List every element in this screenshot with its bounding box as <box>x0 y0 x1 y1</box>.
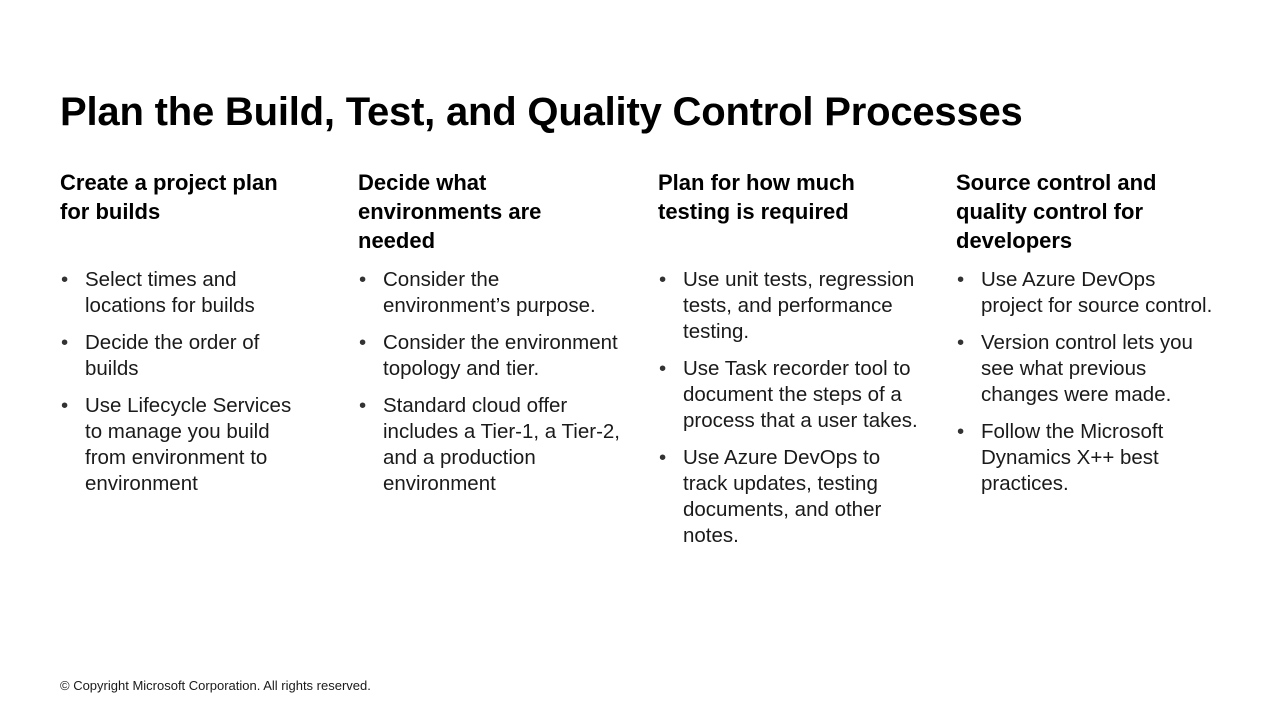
bullet-point-icon: • <box>359 330 366 356</box>
bullet-point-icon: • <box>659 356 666 382</box>
content-column-2: Decide what environments are needed • Co… <box>358 168 620 255</box>
presentation-slide: Plan the Build, Test, and Quality Contro… <box>0 0 1280 720</box>
list-item: • Use Task recorder tool to document the… <box>658 356 926 434</box>
bullet-point-icon: • <box>957 330 964 356</box>
list-item: • Standard cloud offer includes a Tier-1… <box>358 393 620 497</box>
column-heading-1: Create a project plan for builds <box>60 168 312 226</box>
bullet-point-icon: • <box>957 419 964 445</box>
list-item-text: Version control lets you see what previo… <box>981 330 1214 408</box>
list-item-text: Follow the Microsoft Dynamics X++ best p… <box>981 419 1214 497</box>
list-item-text: Use Azure DevOps project for source cont… <box>981 267 1214 319</box>
column-heading-2: Decide what environments are needed <box>358 168 620 255</box>
copyright-footer: © Copyright Microsoft Corporation. All r… <box>60 677 371 694</box>
bullet-point-icon: • <box>359 393 366 419</box>
bullet-list-4: • Use Azure DevOps project for source co… <box>956 267 1214 497</box>
bullet-point-icon: • <box>659 445 666 471</box>
list-item: • Use Azure DevOps to track updates, tes… <box>658 445 926 549</box>
bullet-point-icon: • <box>359 267 366 293</box>
bullet-point-icon: • <box>61 330 68 356</box>
list-item-text: Consider the environment topology and ti… <box>383 330 620 382</box>
list-item: • Decide the order of builds <box>60 330 312 382</box>
list-item-text: Use unit tests, regression tests, and pe… <box>683 267 926 345</box>
list-item: • Consider the environment’s purpose. <box>358 267 620 319</box>
list-item: • Use Azure DevOps project for source co… <box>956 267 1214 319</box>
list-item: • Use Lifecycle Services to manage you b… <box>60 393 312 497</box>
list-item-text: Use Azure DevOps to track updates, testi… <box>683 445 926 549</box>
list-item: • Consider the environment topology and … <box>358 330 620 382</box>
bullet-point-icon: • <box>659 267 666 293</box>
content-column-4: Source control and quality control for d… <box>956 168 1214 255</box>
list-item-text: Use Task recorder tool to document the s… <box>683 356 926 434</box>
bullet-point-icon: • <box>957 267 964 293</box>
content-column-3: Plan for how much testing is required • … <box>658 168 926 226</box>
list-item-text: Decide the order of builds <box>85 330 312 382</box>
bullet-list-3: • Use unit tests, regression tests, and … <box>658 267 926 549</box>
column-heading-3: Plan for how much testing is required <box>658 168 926 226</box>
content-columns: Create a project plan for builds • Selec… <box>0 0 1280 720</box>
list-item: • Version control lets you see what prev… <box>956 330 1214 408</box>
list-item: • Select times and locations for builds <box>60 267 312 319</box>
list-item-text: Use Lifecycle Services to manage you bui… <box>85 393 312 497</box>
bullet-point-icon: • <box>61 393 68 419</box>
bullet-list-1: • Select times and locations for builds … <box>60 267 312 497</box>
column-heading-4: Source control and quality control for d… <box>956 168 1214 255</box>
list-item-text: Consider the environment’s purpose. <box>383 267 620 319</box>
list-item-text: Select times and locations for builds <box>85 267 312 319</box>
list-item: • Follow the Microsoft Dynamics X++ best… <box>956 419 1214 497</box>
bullet-list-2: • Consider the environment’s purpose. • … <box>358 267 620 497</box>
bullet-point-icon: • <box>61 267 68 293</box>
list-item-text: Standard cloud offer includes a Tier-1, … <box>383 393 620 497</box>
list-item: • Use unit tests, regression tests, and … <box>658 267 926 345</box>
content-column-1: Create a project plan for builds • Selec… <box>60 168 312 226</box>
